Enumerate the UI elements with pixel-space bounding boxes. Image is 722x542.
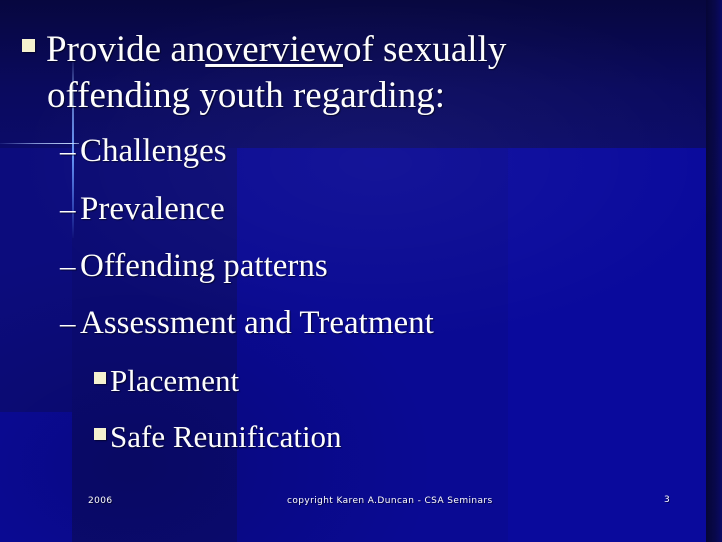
bullet-level2-prevalence: – Prevalence: [60, 191, 225, 227]
bullet-level3-safe-reunification: Safe Reunification: [94, 420, 342, 454]
bullet-level2-assessment-and-treatment: – Assessment and Treatment: [60, 305, 434, 341]
bullet-level1-continuation: offending youth regarding:: [47, 76, 445, 116]
footer-page-number: 3: [664, 495, 670, 505]
dash-bullet-icon: –: [60, 305, 78, 341]
square-bullet-icon: [94, 372, 106, 384]
bullet-level2-label: Offending patterns: [80, 248, 328, 284]
footer-date: 2006: [88, 496, 113, 506]
bullet-level2-label: Assessment and Treatment: [80, 305, 434, 341]
bullet-level1-emphasis-overview: overview: [205, 30, 343, 70]
dash-bullet-icon: –: [60, 248, 78, 284]
bullet-level1-text-after: of sexually: [343, 30, 506, 70]
presentation-slide: Provide an overview of sexually offendin…: [0, 0, 722, 542]
bullet-level2-challenges: – Challenges: [60, 133, 227, 169]
square-bullet-icon: [22, 39, 35, 52]
footer-copyright: copyright Karen A.Duncan - CSA Seminars: [287, 496, 493, 506]
bullet-level3-label: Safe Reunification: [110, 420, 342, 454]
bullet-level2-label: Prevalence: [80, 191, 225, 227]
slide-content: Provide an overview of sexually offendin…: [0, 0, 722, 542]
bullet-level3-label: Placement: [110, 364, 239, 398]
bullet-level1-continuation-text: offending youth regarding:: [47, 76, 445, 116]
bullet-level2-label: Challenges: [80, 133, 227, 169]
bullet-level3-placement: Placement: [94, 364, 239, 398]
bullet-level1-provide-overview: Provide an overview of sexually: [22, 30, 506, 70]
dash-bullet-icon: –: [60, 133, 78, 169]
bullet-level2-offending-patterns: – Offending patterns: [60, 248, 328, 284]
square-bullet-icon: [94, 428, 106, 440]
dash-bullet-icon: –: [60, 191, 78, 227]
bullet-level1-text-before: Provide an: [46, 30, 205, 70]
